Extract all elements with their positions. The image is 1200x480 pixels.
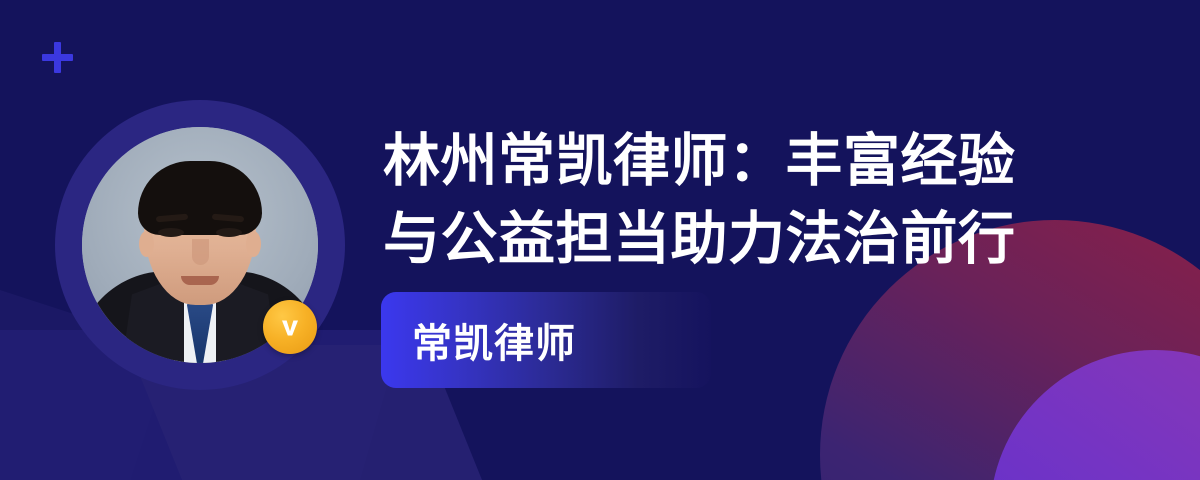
portrait-eye-right bbox=[216, 228, 242, 237]
portrait-ear-right bbox=[246, 231, 261, 257]
author-name-label: 常凯律师 bbox=[412, 311, 576, 369]
portrait-ear-left bbox=[139, 231, 154, 257]
page-title: 林州常凯律师：丰富经验 与公益担当助力法治前行 bbox=[383, 122, 1083, 278]
portrait-mouth bbox=[181, 276, 219, 285]
portrait-nose bbox=[192, 239, 209, 265]
verified-v-icon bbox=[263, 300, 317, 354]
plus-icon-bar-vertical bbox=[54, 42, 61, 73]
page-title-line-1: 林州常凯律师：丰富经验 bbox=[383, 122, 1083, 200]
plus-icon bbox=[42, 42, 73, 73]
author-name-badge[interactable]: 常凯律师 bbox=[381, 292, 711, 388]
avatar bbox=[55, 100, 345, 390]
portrait-eye-left bbox=[158, 228, 184, 237]
page-title-line-2: 与公益担当助力法治前行 bbox=[383, 200, 1083, 278]
promo-banner: 林州常凯律师：丰富经验 与公益担当助力法治前行 常凯律师 bbox=[0, 0, 1200, 480]
